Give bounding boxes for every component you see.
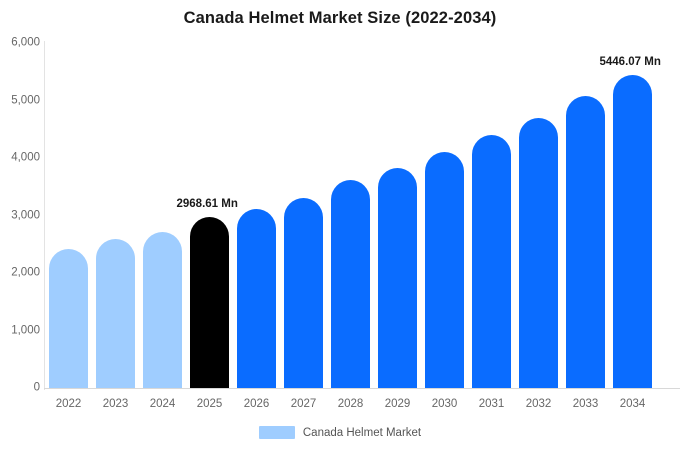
y-axis-tick-6000: 6,000 — [2, 37, 40, 49]
x-axis-tick-2028: 2028 — [327, 398, 374, 412]
y-axis-tick-1000: 1,000 — [2, 325, 40, 337]
bar-2031[interactable] — [472, 135, 511, 388]
bar-2023[interactable] — [96, 239, 135, 388]
bar-2034[interactable] — [613, 75, 652, 388]
bar-2033[interactable] — [566, 96, 605, 388]
chart-title: Canada Helmet Market Size (2022-2034) — [0, 9, 680, 28]
chart-legend: Canada Helmet Market — [0, 426, 680, 439]
x-axis-tick-2024: 2024 — [139, 398, 186, 412]
x-axis-tick-2022: 2022 — [45, 398, 92, 412]
x-axis-tick-2032: 2032 — [515, 398, 562, 412]
bar-2025[interactable] — [190, 217, 229, 388]
data-label-2025: 2968.61 Mn — [177, 199, 238, 211]
bar-2029[interactable] — [378, 168, 417, 388]
bar-2028[interactable] — [331, 180, 370, 388]
y-axis-tick-2000: 2,000 — [2, 267, 40, 279]
x-axis-tick-2029: 2029 — [374, 398, 421, 412]
y-axis-tick-0: 0 — [2, 382, 40, 394]
x-axis-tick-2023: 2023 — [92, 398, 139, 412]
x-axis-tick-2027: 2027 — [280, 398, 327, 412]
chart-canvas: Canada Helmet Market Size (2022-2034) 01… — [0, 0, 680, 450]
data-label-2034: 5446.07 Mn — [600, 57, 661, 69]
y-axis-tick-labels: 01,0002,0003,0004,0005,0006,000 — [0, 0, 40, 450]
bar-2024[interactable] — [143, 232, 182, 388]
x-axis-tick-2025: 2025 — [186, 398, 233, 412]
bar-2026[interactable] — [237, 209, 276, 388]
bar-2027[interactable] — [284, 198, 323, 388]
y-axis-tick-5000: 5,000 — [2, 95, 40, 107]
bar-2030[interactable] — [425, 152, 464, 388]
y-axis-tick-3000: 3,000 — [2, 210, 40, 222]
bar-series — [44, 43, 680, 388]
legend-label-canada-helmet-market: Canada Helmet Market — [303, 427, 421, 439]
y-axis-tick-4000: 4,000 — [2, 152, 40, 164]
x-axis-tick-2034: 2034 — [609, 398, 656, 412]
bar-2032[interactable] — [519, 118, 558, 388]
x-axis-tick-2026: 2026 — [233, 398, 280, 412]
bar-2022[interactable] — [49, 249, 88, 388]
x-axis-tick-2030: 2030 — [421, 398, 468, 412]
x-axis-tick-2031: 2031 — [468, 398, 515, 412]
legend-swatch-canada-helmet-market — [259, 426, 295, 439]
x-axis-tick-labels: 2022202320242025202620272028202920302031… — [44, 398, 680, 416]
x-axis-tick-2033: 2033 — [562, 398, 609, 412]
x-axis-line — [44, 388, 680, 389]
